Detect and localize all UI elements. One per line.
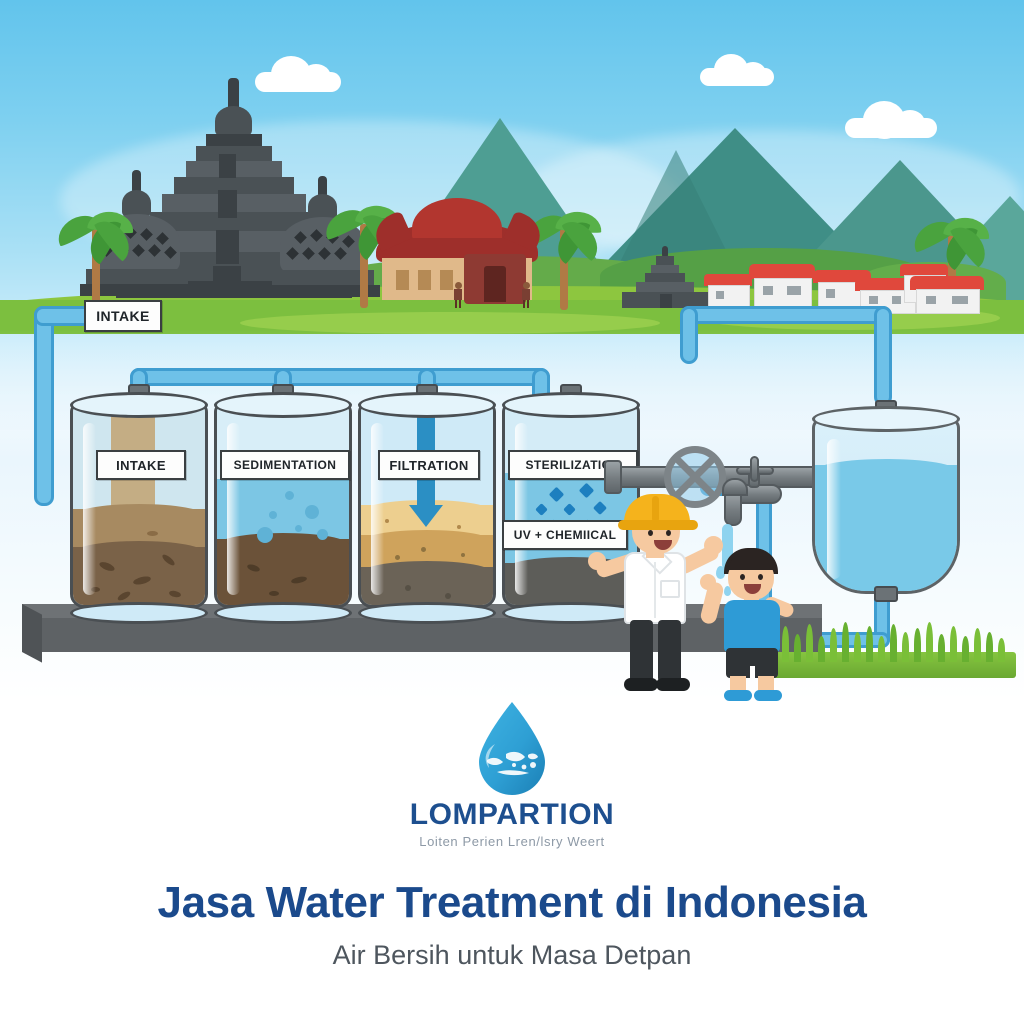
debris-speck [269, 591, 279, 596]
tank-rim [358, 392, 496, 418]
storage-tank-rim [812, 406, 960, 432]
temple-bell-top [215, 106, 252, 136]
tank-glass [70, 402, 208, 608]
grain-speck [445, 593, 451, 599]
tank-glass [358, 402, 496, 608]
tank-bottom [358, 602, 496, 624]
stage-tank-intake[interactable]: INTAKE [70, 392, 208, 614]
intake-riser-pipe [34, 306, 54, 506]
rumah-gadang-door [484, 266, 506, 302]
stage-label-filtration: FILTRATION [378, 450, 480, 480]
tank-glass-shine [515, 423, 528, 595]
faucet-spout [724, 492, 742, 526]
grain-speck [385, 519, 389, 523]
stage-label-text: FILTRATION [389, 458, 468, 473]
bubble [305, 505, 319, 519]
manifold-pipe [130, 368, 550, 386]
engineer-shoe [656, 678, 690, 691]
tank-glass-shine [371, 423, 384, 595]
stage-tank-sedimentation[interactable]: SEDIMENTATION [214, 392, 352, 614]
prambanan-temple [620, 246, 712, 308]
brand-name: LOMPARTION [0, 798, 1024, 832]
engineer-leg [630, 620, 653, 682]
rumah-gadang-window [396, 270, 409, 290]
tank-rim [214, 392, 352, 418]
tank-bottom [70, 602, 208, 624]
tank-glass-shine [227, 423, 240, 595]
engineer-eye [648, 530, 653, 536]
water-drop-icon [473, 700, 551, 796]
flow-arrow-head [409, 505, 443, 527]
engineer-hand-left [588, 552, 606, 570]
temple-doorway [216, 230, 239, 264]
cloud-icon [700, 68, 774, 86]
palm-tree [62, 200, 132, 310]
person-figure [520, 282, 532, 308]
village-house [708, 274, 748, 306]
bubble [317, 529, 328, 540]
stage-label-text: SEDIMENTATION [234, 458, 337, 472]
bubble [285, 491, 294, 500]
bubble [295, 525, 302, 532]
village-house [754, 264, 810, 306]
engineer-leg [658, 620, 681, 682]
engineer-helmet-brim [618, 520, 698, 530]
brand-logo-block: LOMPARTION Loiten Perien Lren/lsry Weert [0, 700, 1024, 849]
engineer-eye [666, 530, 671, 536]
temple-doorway [218, 190, 237, 218]
boy-fringe [728, 556, 774, 570]
grain-speck [421, 547, 426, 552]
boy-hand-left [700, 574, 716, 590]
boy-shorts-gap [750, 666, 755, 678]
plant-platform-bevel [22, 604, 42, 663]
rumah-gadang-window [418, 270, 431, 290]
engineer-helmet-ridge [652, 496, 659, 522]
transfer-pipe-flange [604, 460, 622, 494]
storage-feed-pipe-top [680, 306, 892, 324]
grain-speck [457, 525, 461, 529]
storage-tank-body [812, 418, 960, 594]
tank-rim [502, 392, 640, 418]
poster-canvas: INTAKE [0, 0, 1024, 1024]
bubble [257, 527, 273, 543]
clean-water-storage-tank[interactable] [812, 406, 960, 614]
rumah-gadang-house [368, 196, 546, 308]
grass-patch [766, 622, 1016, 678]
storage-tank-outlet [874, 586, 898, 602]
engineer-pocket [660, 580, 680, 598]
boy-eye [740, 574, 745, 580]
debris-speck [147, 531, 158, 536]
stage-label-text: INTAKE [116, 458, 166, 473]
boy-eye [758, 574, 763, 580]
boy-shirt [724, 600, 780, 652]
faucet-handle-cross [750, 456, 759, 482]
grain-speck [405, 585, 411, 591]
engineer-shoe [624, 678, 658, 691]
stage-label-intake: INTAKE [96, 450, 186, 480]
intake-source-label-text: INTAKE [96, 308, 149, 324]
temple-doorway [219, 154, 236, 178]
tank-rim [70, 392, 208, 418]
grain-speck [395, 555, 400, 560]
rumah-gadang-roof-peak [412, 198, 502, 238]
village-houses [708, 256, 968, 312]
person-figure [452, 282, 464, 308]
stage-sublabel-text: UV + CHEMIICAL [514, 528, 617, 542]
stage-label-sedimentation: SEDIMENTATION [220, 450, 350, 480]
bubble [269, 511, 277, 519]
temple-doorway [213, 266, 241, 296]
faucet-neck [722, 478, 748, 496]
grain-speck [461, 553, 465, 557]
page-subtitle: Air Bersih untuk Masa Detpan [0, 940, 1024, 971]
village-house [916, 276, 978, 312]
storage-feed-pipe-riser [680, 306, 698, 364]
tank-glass [214, 402, 352, 608]
storage-feed-pipe-down [874, 306, 892, 406]
boy-character [708, 548, 800, 696]
page-title: Jasa Water Treatment di Indonesia [0, 878, 1024, 928]
tank-bottom [214, 602, 352, 624]
brand-tagline: Loiten Perien Lren/lsry Weert [0, 834, 1024, 849]
engineer-placket [654, 562, 656, 618]
intake-source-label: INTAKE [84, 300, 162, 332]
stage-tank-filtration[interactable]: FILTRATION [358, 392, 496, 614]
tank-glass-shine [83, 423, 96, 595]
